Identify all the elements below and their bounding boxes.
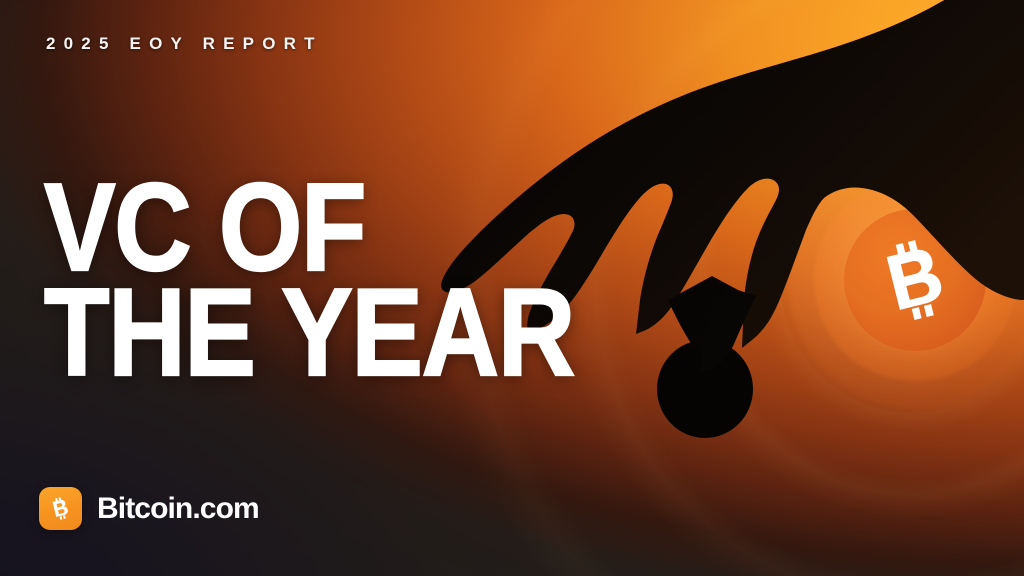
- headline-line-2: THE YEAR: [44, 281, 528, 386]
- brand-lockup[interactable]: Bitcoin.com: [39, 487, 259, 530]
- bitcoin-b-icon: [39, 487, 82, 530]
- brand-wordmark: Bitcoin.com: [97, 494, 259, 524]
- report-cover-canvas: 2025 EOY REPORT VC OF THE YEAR Bitcoin.c…: [0, 0, 1024, 576]
- report-kicker: 2025 EOY REPORT: [46, 34, 323, 54]
- page-title: VC OF THE YEAR: [44, 176, 604, 386]
